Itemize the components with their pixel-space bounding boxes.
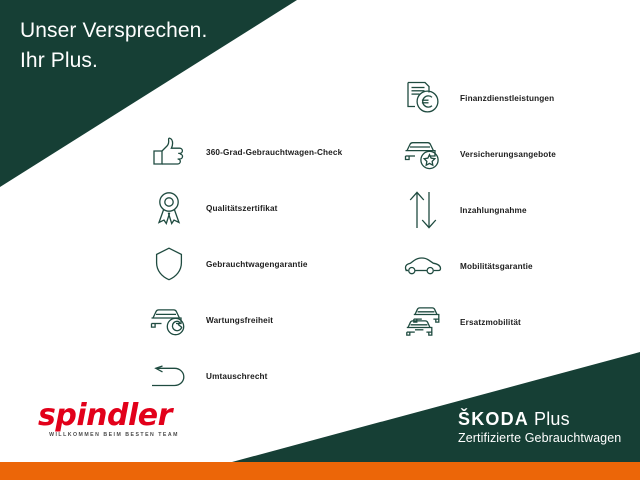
rosette-icon: [148, 187, 190, 229]
feature-label: Wartungsfreiheit: [206, 316, 273, 325]
feature-item: Versicherungsangebote: [402, 128, 640, 180]
dealer-logo[interactable]: spindler WILLKOMMEN BEIM BESTEN TEAM: [38, 401, 196, 438]
feature-item: Gebrauchtwagengarantie: [148, 238, 398, 290]
feature-label: Ersatzmobilität: [460, 318, 521, 327]
feature-item: Finanzdienstleistungen: [402, 72, 640, 124]
document-euro-icon: [402, 77, 444, 119]
dealer-tagline: WILLKOMMEN BEIM BESTEN TEAM: [38, 432, 190, 438]
feature-item: Wartungsfreiheit: [148, 294, 398, 346]
headline-line-1: Unser Versprechen.: [20, 16, 207, 46]
feature-item: Ersatzmobilität: [402, 296, 640, 348]
two-cars-icon: [402, 301, 444, 343]
feature-label: 360-Grad-Gebrauchtwagen-Check: [206, 148, 342, 157]
feature-item: Mobilitätsgarantie: [402, 240, 640, 292]
car-star-icon: [402, 133, 444, 175]
car-side-icon: [402, 245, 444, 287]
brand-subtitle: Zertifizierte Gebrauchtwagen: [458, 430, 621, 446]
thumbs-up-icon: [148, 131, 190, 173]
brand-logo-top: ŠKODA Plus: [458, 408, 621, 430]
feature-label: Umtauschrecht: [206, 372, 268, 381]
feature-item: Umtauschrecht: [148, 350, 398, 402]
feature-list-left: 360-Grad-Gebrauchtwagen-Check Qualitätsz…: [148, 126, 398, 406]
headline-line-2: Ihr Plus.: [20, 46, 207, 76]
feature-label: Mobilitätsgarantie: [460, 262, 533, 271]
brand-mark: ŠKODA: [458, 409, 529, 429]
headline: Unser Versprechen. Ihr Plus.: [20, 16, 207, 76]
brand-logo[interactable]: ŠKODA Plus Zertifizierte Gebrauchtwagen: [458, 408, 621, 446]
feature-label: Finanzdienstleistungen: [460, 94, 554, 103]
feature-item: 360-Grad-Gebrauchtwagen-Check: [148, 126, 398, 178]
promo-banner: Unser Versprechen. Ihr Plus. 360-Grad-Ge…: [0, 0, 640, 480]
orange-accent-bar: [0, 462, 640, 480]
feature-label: Gebrauchtwagengarantie: [206, 260, 308, 269]
feature-label: Qualitätszertifikat: [206, 204, 278, 213]
shield-icon: [148, 243, 190, 285]
car-wrench-icon: [148, 299, 190, 341]
feature-label: Versicherungsangebote: [460, 150, 556, 159]
feature-item: Qualitätszertifikat: [148, 182, 398, 234]
return-arrow-icon: [148, 355, 190, 397]
up-down-arrows-icon: [402, 189, 444, 231]
brand-plus: Plus: [534, 409, 570, 429]
feature-item: Inzahlungnahme: [402, 184, 640, 236]
dealer-wordmark: spindler: [38, 401, 196, 431]
feature-label: Inzahlungnahme: [460, 206, 527, 215]
feature-list-right: Finanzdienstleistungen Versicherungsange…: [402, 72, 640, 352]
